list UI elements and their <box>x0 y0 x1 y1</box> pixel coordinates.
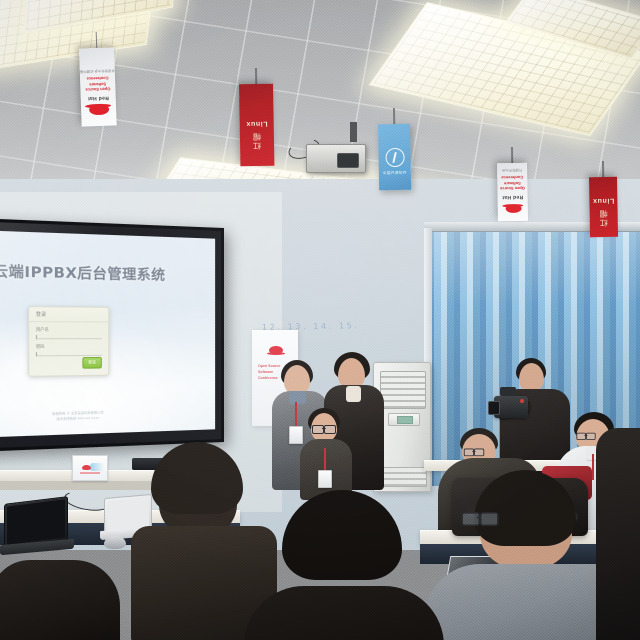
password-field[interactable]: 密码 <box>36 343 102 356</box>
torso <box>0 560 120 640</box>
hanging-banner-redhat-left: Red Hat Open Source Software Conference … <box>79 47 117 126</box>
username-field[interactable]: 用户名 <box>36 326 102 339</box>
foreground-attendee-far-right <box>596 428 640 640</box>
record-indicator-icon <box>520 399 524 403</box>
lanyard <box>295 402 297 428</box>
glasses-icon <box>461 512 498 523</box>
login-card-title: 登录 <box>36 311 46 317</box>
slide-footer: 版权所有 © 北京某某科技有限公司 技术支持热线 400-xxx-xxxx <box>11 410 142 424</box>
foreground-attendee-left <box>145 442 257 640</box>
hanging-banner-linux-left: 红帽 Linux <box>239 84 274 167</box>
inner-shirt <box>346 386 361 402</box>
hair <box>151 442 243 514</box>
name-badge <box>318 470 332 488</box>
card-text-line <box>80 472 100 474</box>
username-label: 用户名 <box>36 326 102 332</box>
foreground-attendee-right <box>430 470 620 640</box>
foreground-attendee-bottom-left <box>0 560 120 640</box>
glasses-icon <box>576 433 595 439</box>
air-intake-icon <box>379 467 427 487</box>
shirt-collar <box>289 391 306 404</box>
banner-subtext: 开源软件大会 <box>502 167 522 172</box>
slide-title: 云端IPPBX后台管理系统 <box>0 259 166 284</box>
camcorder-icon <box>494 396 528 418</box>
projected-slide: 云端IPPBX后台管理系统 登录 用户名 密码 登录 版权所 <box>0 230 215 438</box>
camera-microphone-icon <box>500 387 516 396</box>
banner-wordmark: Red Hat <box>502 194 523 200</box>
computer-mouse[interactable] <box>104 536 126 549</box>
banner-chinese-text: 红帽 <box>598 209 609 227</box>
laptop-screen <box>7 499 65 544</box>
hanging-banner-linux-right: 红帽 Linux <box>589 177 618 237</box>
login-card: 登录 用户名 密码 登录 <box>28 306 109 377</box>
banner-chinese-text: 红帽 <box>251 132 262 150</box>
glasses-icon <box>464 449 484 455</box>
username-caret <box>36 335 37 339</box>
glasses-icon <box>312 425 336 432</box>
red-hat-table-card <box>72 455 108 481</box>
login-card-header: 登录 <box>29 307 108 322</box>
hair <box>474 470 576 546</box>
login-submit-button[interactable]: 登录 <box>82 357 101 369</box>
seated-presenter-glasses <box>300 408 352 500</box>
red-hat-icon <box>82 465 91 470</box>
hanging-banner-redhat-right: Red Hat Open Source Software Conference … <box>497 163 528 222</box>
projector-lens-icon <box>337 153 359 168</box>
red-hat-icon <box>85 102 112 118</box>
password-caret <box>36 352 37 356</box>
circle-mark-icon <box>385 148 404 167</box>
password-label: 密码 <box>36 343 102 350</box>
camera-lens-icon <box>488 401 500 415</box>
classroom-photo: Red Hat Open Source Software Conference … <box>0 0 640 640</box>
red-hat-brim <box>267 352 285 355</box>
banner-subtext: 开源软件大会 红帽中国 <box>80 68 115 74</box>
torso <box>596 428 640 640</box>
card-wave-graphic <box>90 463 104 471</box>
hanging-banner-logo-blue: 中国开源软件 <box>378 124 411 191</box>
projector-mount <box>350 122 357 142</box>
username-underline <box>36 338 102 339</box>
projector-body <box>306 144 366 173</box>
banner-subtext: 中国开源软件 <box>383 171 407 176</box>
ceiling-projector-icon <box>306 138 368 172</box>
torso <box>244 586 444 640</box>
hair <box>282 490 402 580</box>
air-vent-icon <box>380 371 426 409</box>
aircon-display <box>397 416 413 424</box>
banner-tagline: Open Source Software Conference <box>497 175 527 192</box>
aircon-control-panel[interactable] <box>388 413 420 426</box>
laptop-screen <box>107 497 149 531</box>
projection-screen: 云端IPPBX后台管理系统 登录 用户名 密码 登录 版权所 <box>0 218 224 452</box>
banner-wordmark: Red Hat <box>88 95 109 102</box>
banner-tagline: Open Source Software Conference <box>80 75 116 92</box>
laptop-dark[interactable] <box>4 500 78 554</box>
banner-wordmark: Linux <box>593 197 615 204</box>
red-hat-icon <box>502 202 523 214</box>
foreground-attendee-center <box>268 490 418 640</box>
head <box>519 363 544 392</box>
banner-wordmark: Linux <box>246 120 268 127</box>
